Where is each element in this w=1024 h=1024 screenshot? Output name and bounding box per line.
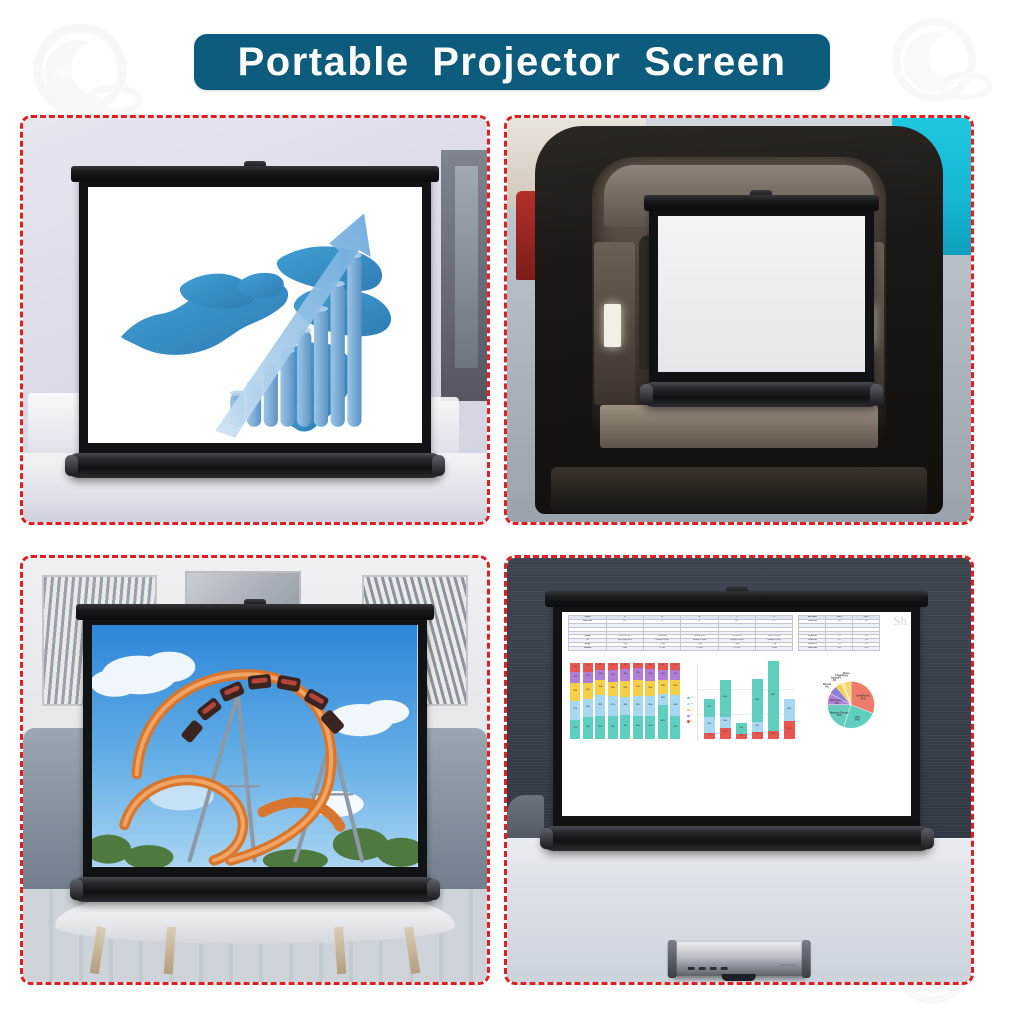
column-segment: 7% bbox=[704, 733, 715, 739]
bar-segment: 15% bbox=[633, 668, 643, 680]
bar-label: 2018 Apr bbox=[583, 740, 593, 741]
bar-segment: 21% bbox=[633, 680, 643, 696]
bar-label: 2018 Jul bbox=[620, 740, 630, 741]
legend-swatch bbox=[687, 703, 690, 706]
projector-screen-car[interactable] bbox=[649, 200, 874, 394]
bar-segment: 30% bbox=[595, 716, 605, 739]
pie-value: 5% bbox=[844, 675, 848, 678]
dashboard-watermark: Sh bbox=[893, 613, 907, 629]
bar-label: 2018 May bbox=[595, 740, 605, 741]
rear-bumper bbox=[551, 467, 927, 514]
projector-side-grip-right bbox=[801, 940, 810, 978]
world-map-bar-chart-art bbox=[88, 187, 423, 444]
bar-segment: 23% bbox=[583, 699, 593, 716]
stacked-bar: 9%13%20%28%30%2018 Nov bbox=[670, 663, 680, 741]
pie-value: 31% bbox=[860, 697, 866, 700]
bar-label: 2018 Sep bbox=[645, 740, 655, 741]
pie-value: 4% bbox=[832, 679, 836, 682]
column-segment: 10% bbox=[768, 731, 779, 739]
stacked-bar: 8%15%20%24%30%2018 Jul bbox=[620, 663, 630, 741]
column-label: E bbox=[768, 740, 779, 741]
stacked-bar-legend: ABCDE bbox=[687, 697, 692, 723]
suv-body bbox=[535, 126, 943, 514]
legend-label: D bbox=[691, 715, 692, 717]
trunk-light-left bbox=[604, 304, 620, 347]
price-breakdown-table: Row LabelsCore i5Core i7$1000-$15006%8%$… bbox=[798, 615, 880, 651]
projector-screen-dashboard[interactable]: Sh ProductABBCDScreen Size15.3"16"14"15.… bbox=[553, 596, 920, 838]
stacked-bar: 8%15%20%25%30%2018 Sep bbox=[645, 663, 655, 741]
bar-label: 2018 Jun bbox=[608, 740, 618, 741]
roller-cap-right bbox=[427, 879, 440, 900]
legend-item: B bbox=[687, 703, 692, 706]
office-chair-left bbox=[28, 393, 84, 458]
column-segment: 88% bbox=[768, 661, 779, 731]
roller-cap-right bbox=[870, 384, 883, 405]
bar-segment: 25% bbox=[645, 696, 655, 715]
bar-segment: 25% bbox=[570, 683, 580, 701]
column-segment: 23% bbox=[704, 699, 715, 717]
stacked-bar: 13%16%25%27%27%2018 Mar bbox=[570, 663, 580, 741]
panel-dashboard[interactable]: Sh ProductABBCDScreen Size15.3"16"14"15.… bbox=[504, 555, 974, 985]
legend-swatch bbox=[687, 697, 690, 700]
pie-chart: Asia/Pacific31%USA24%Western Europe20%La… bbox=[805, 655, 897, 741]
bar-segment: 24% bbox=[620, 697, 630, 716]
blank-projection-surface bbox=[658, 216, 865, 372]
screen-top-bar bbox=[76, 604, 434, 620]
column-label: B bbox=[720, 740, 731, 741]
roller-cap-right bbox=[432, 455, 445, 476]
bar-segment: 13% bbox=[570, 663, 580, 672]
screen-roller-base bbox=[71, 877, 438, 902]
column-segment: 14% bbox=[720, 717, 731, 728]
projector-port bbox=[710, 967, 717, 970]
table-row: Thickness15mm15.7mm17.70mm12.57mm14.9mm bbox=[569, 647, 793, 651]
bar-segment: 14% bbox=[658, 670, 668, 680]
screen-surface bbox=[92, 625, 417, 867]
window-glow bbox=[455, 166, 478, 368]
bar-segment: 30% bbox=[670, 716, 680, 739]
bar-segment: 20% bbox=[645, 681, 655, 697]
roller-cap-right bbox=[921, 828, 934, 849]
screen-top-bar bbox=[545, 591, 928, 607]
bar-segment: 20% bbox=[670, 680, 680, 695]
projector-body bbox=[672, 942, 807, 976]
column-segment: 9% bbox=[752, 732, 763, 739]
projector-screen-map[interactable] bbox=[79, 171, 432, 466]
legend-item: E bbox=[687, 720, 692, 723]
column-segment: 14% bbox=[736, 723, 747, 734]
roller-cap-left bbox=[65, 455, 78, 476]
column-label: F bbox=[784, 740, 795, 741]
projector-port bbox=[699, 967, 706, 970]
bar-segment: 46% bbox=[658, 705, 668, 739]
projector-brand-label: PROJECTOR bbox=[781, 964, 796, 967]
bar-segment: 15% bbox=[645, 669, 655, 681]
bar-segment: 16% bbox=[570, 672, 580, 683]
bar-segment: 15% bbox=[658, 694, 668, 705]
bar-segment: 13% bbox=[670, 670, 680, 680]
trunk-floor bbox=[600, 405, 878, 448]
bar-label: 2018 Oct bbox=[658, 740, 668, 741]
projector-ports bbox=[688, 967, 728, 970]
product-spec-table: ProductABBCDScreen Size15.3"16"14"15.3"1… bbox=[568, 615, 793, 651]
panel-car-trunk[interactable] bbox=[504, 115, 974, 525]
column-segment: 28% bbox=[784, 699, 795, 721]
pie-value: 2% bbox=[837, 676, 841, 679]
watermark-top-right bbox=[886, 10, 1006, 110]
bar-segment: 9% bbox=[670, 663, 680, 670]
column-bar: 46%14%14%B bbox=[720, 680, 731, 741]
column-segment: 14% bbox=[720, 728, 731, 739]
legend-item: C bbox=[687, 709, 692, 712]
bar-segment: 9% bbox=[595, 663, 605, 670]
column-bar: 14%6%C bbox=[736, 723, 747, 741]
table-cell: 14.9mm bbox=[756, 647, 793, 651]
bar-segment: 28% bbox=[670, 695, 680, 716]
column-segment: 20% bbox=[704, 717, 715, 733]
bar-segment: 25% bbox=[633, 696, 643, 715]
stacked-bar: 9%14%19%28%30%2018 May bbox=[595, 663, 605, 741]
screen-top-bar bbox=[644, 195, 878, 211]
panel-map[interactable] bbox=[20, 115, 490, 525]
projector-screen-coaster[interactable] bbox=[83, 609, 426, 889]
bar-segment: 27% bbox=[608, 696, 618, 717]
legend-label: A bbox=[691, 697, 692, 699]
table-cell: 15mm bbox=[606, 647, 643, 651]
screen-surface bbox=[658, 216, 865, 372]
column-segment: 46% bbox=[720, 680, 731, 717]
bar-segment: 30% bbox=[583, 717, 593, 739]
column-label: D bbox=[752, 740, 763, 741]
bar-segment: 20% bbox=[620, 681, 630, 697]
projector-stand bbox=[722, 974, 756, 981]
column-bar: 23%20%7%A bbox=[704, 699, 715, 741]
bar-segment: 19% bbox=[658, 680, 668, 694]
legend-label: B bbox=[691, 703, 692, 705]
bar-segment: 30% bbox=[620, 715, 630, 739]
bar-segment: 30% bbox=[633, 716, 643, 739]
column-bar: 28%22%F bbox=[784, 699, 795, 741]
stacked-bar-chart: 13%16%25%27%27%2018 Mar12%15%22%23%30%20… bbox=[570, 663, 680, 741]
pie-value: 20% bbox=[836, 714, 842, 717]
column-label: C bbox=[736, 740, 747, 741]
legend-swatch bbox=[687, 720, 690, 723]
bar-segment: 22% bbox=[583, 683, 593, 699]
bar-segment: 14% bbox=[595, 670, 605, 681]
page-title: Portable Projector Screen bbox=[238, 42, 787, 82]
roller-cap-left bbox=[540, 828, 553, 849]
pie-value: 24% bbox=[854, 719, 860, 722]
bar-segment: 15% bbox=[583, 672, 593, 683]
bar-label: 2018 Aug bbox=[633, 740, 643, 741]
screen-surface: Sh ProductABBCDScreen Size15.3"16"14"15.… bbox=[562, 612, 911, 816]
legend-item: A bbox=[687, 697, 692, 700]
bar-label: 2018 Nov bbox=[670, 740, 680, 741]
stacked-bar: 7%15%21%25%30%2018 Aug bbox=[633, 663, 643, 741]
column-segment: 54% bbox=[752, 679, 763, 722]
legend-swatch bbox=[687, 715, 690, 718]
page-title-banner: Portable Projector Screen bbox=[194, 34, 830, 90]
screen-surface bbox=[88, 187, 423, 444]
table-cell: 100% bbox=[826, 647, 853, 651]
table-row: Grand Total100%100% bbox=[799, 647, 880, 651]
bar-segment: 30% bbox=[645, 716, 655, 739]
watermark-top-left bbox=[28, 14, 158, 124]
bar-segment: 12% bbox=[583, 663, 593, 672]
table-cell: 12.57mm bbox=[718, 647, 755, 651]
legend-swatch bbox=[687, 709, 690, 712]
column-label: A bbox=[704, 740, 715, 741]
column-segment: 22% bbox=[784, 721, 795, 739]
projector-device[interactable]: PROJECTOR bbox=[672, 942, 807, 976]
table-cell: 15.7mm bbox=[644, 647, 681, 651]
legend-label: C bbox=[691, 709, 692, 711]
column-bar: 54%12%9%D bbox=[752, 679, 763, 741]
bar-segment: 28% bbox=[595, 695, 605, 716]
screen-roller-base bbox=[66, 453, 443, 478]
column-chart: 23%20%7%A46%14%14%B14%6%C54%12%9%D88%10%… bbox=[697, 663, 795, 741]
projector-port bbox=[721, 967, 728, 970]
roller-coaster-image bbox=[92, 625, 417, 867]
business-dashboard: Sh ProductABBCDScreen Size15.3"16"14"15.… bbox=[562, 612, 911, 816]
projector-port bbox=[688, 967, 695, 970]
stacked-bar: 9%16%18%27%30%2018 Jun bbox=[608, 663, 618, 741]
column-bar: 88%10%E bbox=[768, 661, 779, 741]
roller-cap-left bbox=[70, 879, 83, 900]
stacked-bar: 12%15%22%23%30%2018 Apr bbox=[583, 663, 593, 741]
panel-living-room[interactable] bbox=[20, 555, 490, 985]
bar-segment: 27% bbox=[570, 701, 580, 720]
bar-segment: 19% bbox=[595, 680, 605, 694]
table-cell: 100% bbox=[853, 647, 880, 651]
bar-segment: 9% bbox=[658, 663, 668, 670]
bar-segment: 9% bbox=[608, 663, 618, 670]
table-cell: 17.70mm bbox=[681, 647, 718, 651]
screen-top-bar bbox=[71, 166, 439, 182]
screen-roller-base bbox=[541, 826, 933, 851]
bar-segment: 18% bbox=[608, 682, 618, 696]
stacked-bar: 9%14%19%15%46%2018 Oct bbox=[658, 663, 668, 741]
bar-label: 2018 Mar bbox=[570, 740, 580, 741]
bar-segment: 30% bbox=[608, 716, 618, 739]
bar-segment: 15% bbox=[620, 669, 630, 681]
product-image-grid: Sh ProductABBCDScreen Size15.3"16"14"15.… bbox=[20, 115, 1004, 999]
projector-side-grip-left bbox=[668, 940, 677, 978]
bar-segment: 27% bbox=[570, 720, 580, 739]
screen-roller-base bbox=[641, 382, 881, 407]
column-segment: 6% bbox=[736, 734, 747, 739]
legend-label: E bbox=[691, 721, 692, 723]
column-segment: 12% bbox=[752, 722, 763, 732]
legend-item: D bbox=[687, 715, 692, 718]
pie-value: 6% bbox=[825, 685, 829, 688]
bar-segment: 16% bbox=[608, 670, 618, 682]
roller-cap-left bbox=[640, 384, 653, 405]
